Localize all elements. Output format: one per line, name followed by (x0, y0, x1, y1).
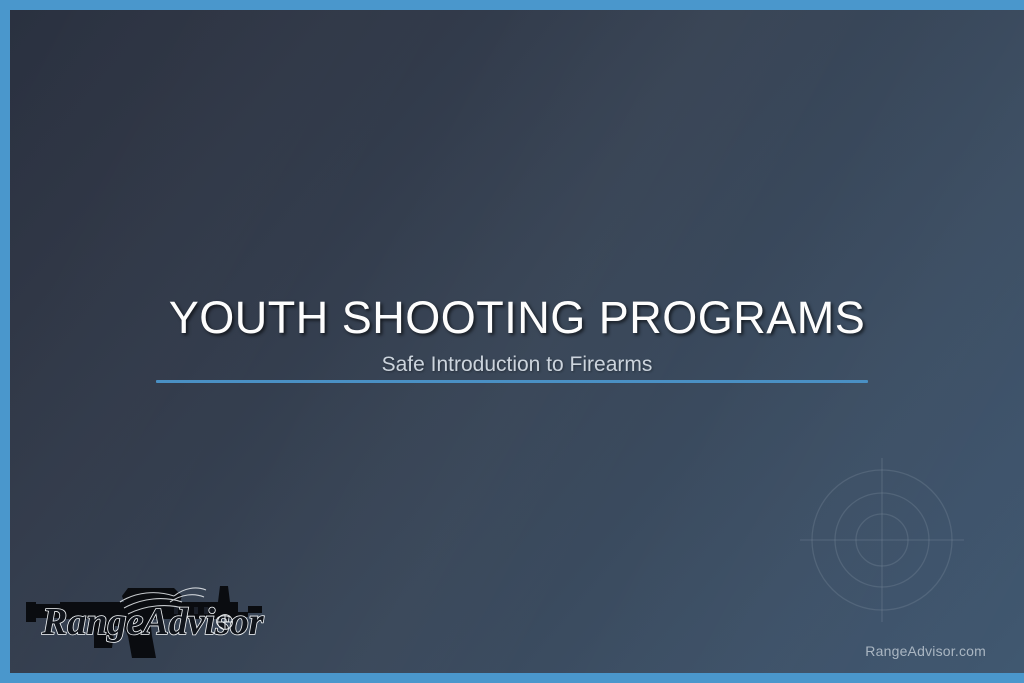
title-accent-divider (156, 380, 868, 383)
title-block: YOUTH SHOOTING PROGRAMS Safe Introductio… (10, 294, 1024, 377)
page-subtitle: Safe Introduction to Firearms (10, 353, 1024, 377)
slide-frame: YOUTH SHOOTING PROGRAMS Safe Introductio… (0, 0, 1024, 683)
page-title: YOUTH SHOOTING PROGRAMS (10, 294, 1024, 343)
brand-logo: RangeAdvisor (24, 572, 276, 664)
scope-reticle-icon (218, 615, 233, 630)
target-crosshair-icon (792, 450, 972, 630)
footer-url: RangeAdvisor.com (865, 643, 986, 659)
slide-canvas: YOUTH SHOOTING PROGRAMS Safe Introductio… (10, 10, 1024, 673)
